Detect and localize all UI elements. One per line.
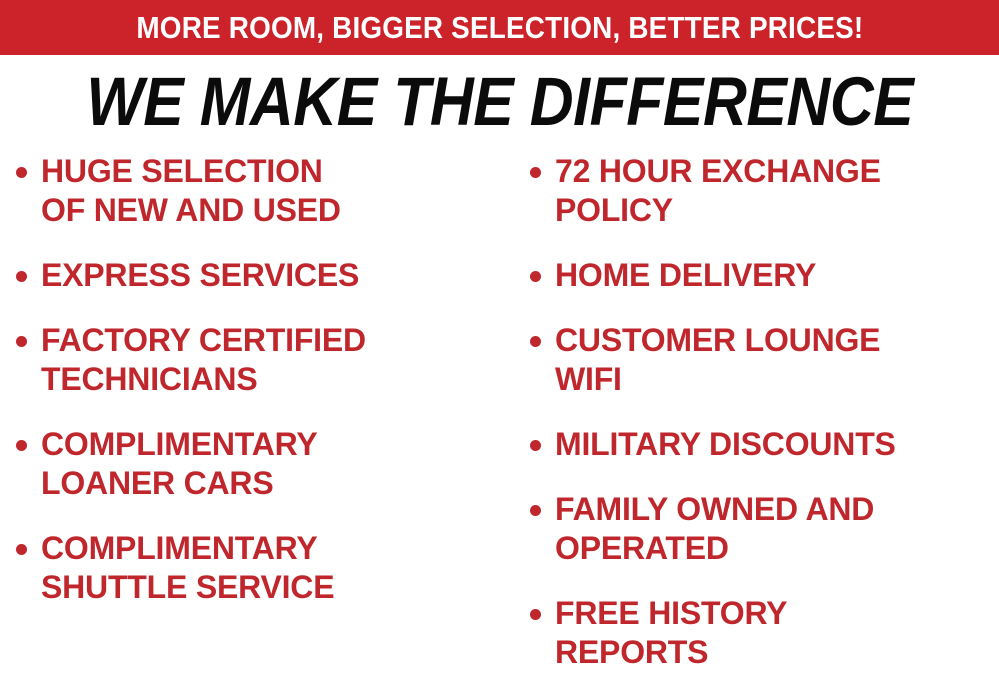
- list-item-label: COMPLIMENTARY LOANER CARS: [41, 425, 318, 503]
- top-announcement-strip: MORE ROOM, BIGGER SELECTION, BETTER PRIC…: [0, 0, 999, 55]
- list-item: FACTORY CERTIFIED TECHNICIANS: [16, 321, 512, 399]
- list-item-label: MILITARY DISCOUNTS: [555, 425, 896, 464]
- list-item: COMPLIMENTARY LOANER CARS: [16, 425, 512, 503]
- bullet-dot-icon: [530, 505, 541, 516]
- list-item: CUSTOMER LOUNGE WIFI: [530, 321, 999, 399]
- bullet-dot-icon: [530, 271, 541, 282]
- benefits-columns: HUGE SELECTION OF NEW AND USED EXPRESS S…: [0, 152, 999, 692]
- bullet-dot-icon: [16, 271, 27, 282]
- list-item-label: HUGE SELECTION OF NEW AND USED: [41, 152, 341, 230]
- list-item-label: FACTORY CERTIFIED TECHNICIANS: [41, 321, 366, 399]
- list-item: EXPRESS SERVICES: [16, 256, 512, 295]
- benefits-column-right: 72 HOUR EXCHANGE POLICY HOME DELIVERY CU…: [512, 152, 999, 698]
- list-item-label: FREE HISTORY REPORTS: [555, 594, 787, 672]
- top-announcement-text: MORE ROOM, BIGGER SELECTION, BETTER PRIC…: [136, 12, 863, 43]
- list-item: 72 HOUR EXCHANGE POLICY: [530, 152, 999, 230]
- bullet-dot-icon: [16, 440, 27, 451]
- list-item-label: FAMILY OWNED AND OPERATED: [555, 490, 874, 568]
- bullet-dot-icon: [16, 544, 27, 555]
- list-item-label: HOME DELIVERY: [555, 256, 816, 295]
- list-item: HUGE SELECTION OF NEW AND USED: [16, 152, 512, 230]
- bullet-dot-icon: [530, 440, 541, 451]
- list-item: FAMILY OWNED AND OPERATED: [530, 490, 999, 568]
- list-item: FREE HISTORY REPORTS: [530, 594, 999, 672]
- bullet-dot-icon: [530, 609, 541, 620]
- page-title: WE MAKE THE DIFFERENCE: [86, 67, 913, 136]
- list-item: COMPLIMENTARY SHUTTLE SERVICE: [16, 529, 512, 607]
- bullet-dot-icon: [16, 167, 27, 178]
- list-item: HOME DELIVERY: [530, 256, 999, 295]
- promotional-banner: MORE ROOM, BIGGER SELECTION, BETTER PRIC…: [0, 0, 999, 692]
- list-item: MILITARY DISCOUNTS: [530, 425, 999, 464]
- list-item-label: 72 HOUR EXCHANGE POLICY: [555, 152, 881, 230]
- list-item-label: EXPRESS SERVICES: [41, 256, 359, 295]
- list-item-label: COMPLIMENTARY SHUTTLE SERVICE: [41, 529, 334, 607]
- list-item-label: CUSTOMER LOUNGE WIFI: [555, 321, 880, 399]
- headline-container: WE MAKE THE DIFFERENCE: [0, 62, 999, 140]
- benefits-column-left: HUGE SELECTION OF NEW AND USED EXPRESS S…: [0, 152, 512, 633]
- bullet-dot-icon: [530, 336, 541, 347]
- bullet-dot-icon: [16, 336, 27, 347]
- bullet-dot-icon: [530, 167, 541, 178]
